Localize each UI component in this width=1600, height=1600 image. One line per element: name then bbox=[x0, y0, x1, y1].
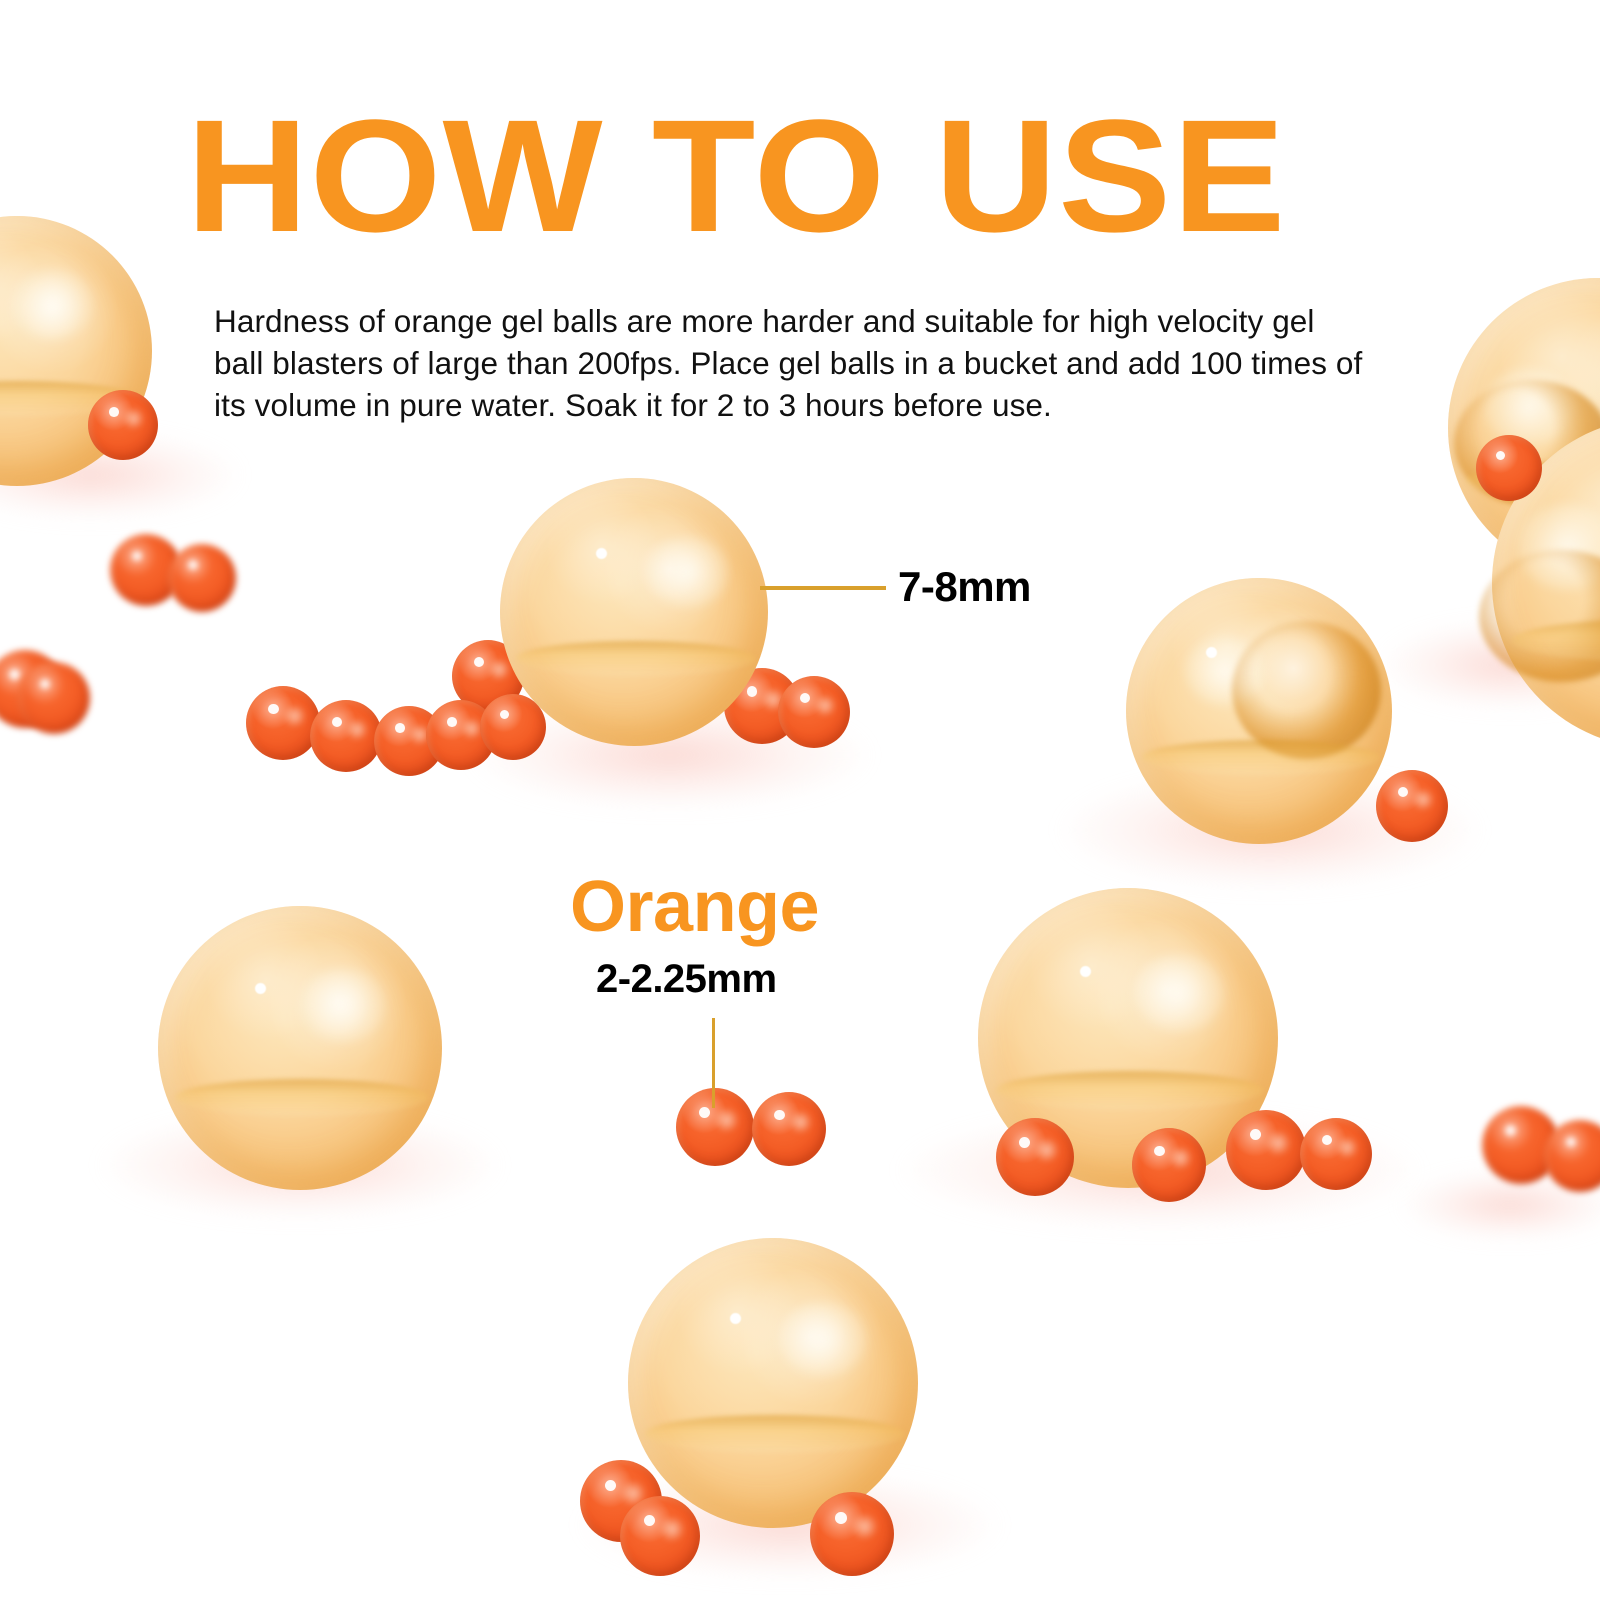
page-title: HOW TO USE bbox=[186, 96, 1286, 256]
callout-label-large-ball-size: 7-8mm bbox=[898, 563, 1031, 611]
text-overlay-layer: HOW TO USE Hardness of orange gel balls … bbox=[0, 0, 1600, 1600]
how-to-use-infographic: HOW TO USE Hardness of orange gel balls … bbox=[0, 0, 1600, 1600]
callout-label-small-bead-size: 2-2.25mm bbox=[596, 957, 777, 1002]
instructions-paragraph: Hardness of orange gel balls are more ha… bbox=[214, 300, 1364, 426]
leader-line-7-8mm bbox=[760, 586, 886, 590]
color-name-heading: Orange bbox=[570, 866, 819, 948]
leader-line-2-225mm bbox=[712, 1018, 715, 1108]
